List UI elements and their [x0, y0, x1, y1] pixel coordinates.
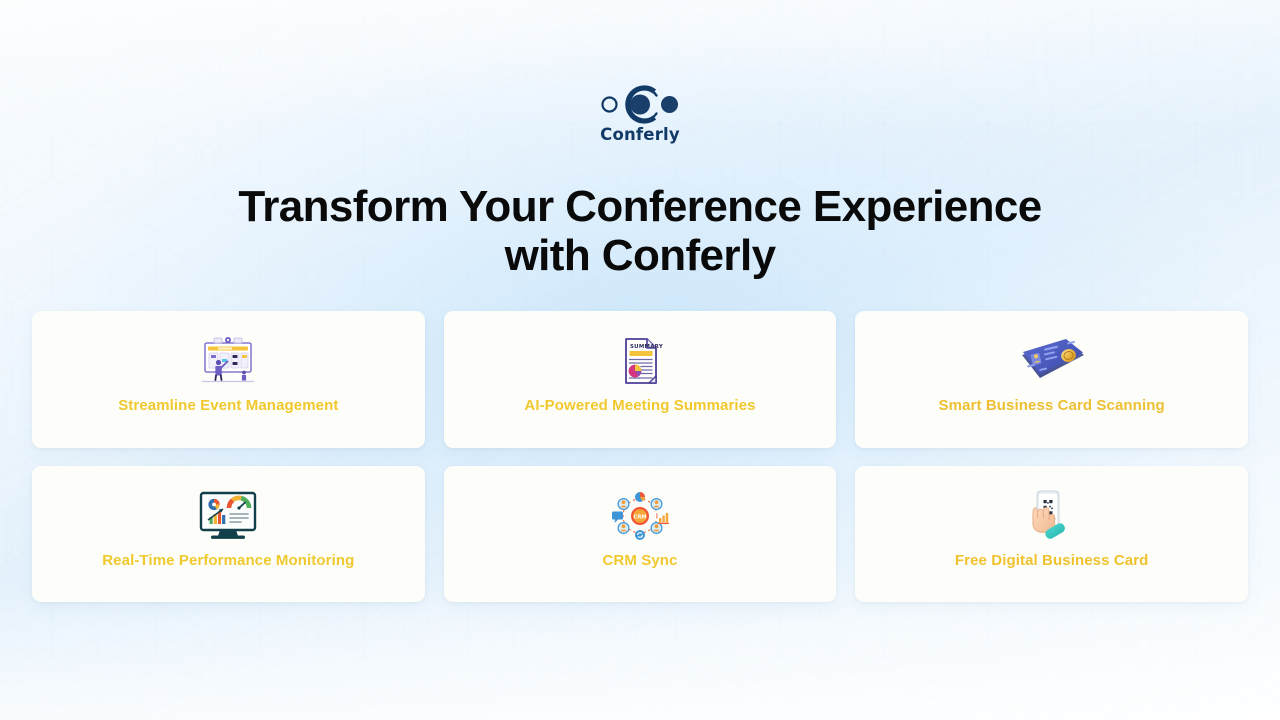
feature-card-title: CRM Sync	[593, 552, 688, 570]
landing-page: Conferly Transform Your Conference Exper…	[0, 0, 1280, 720]
svg-text:SUMMARY: SUMMARY	[630, 344, 663, 350]
feature-card-title: Free Digital Business Card	[945, 552, 1159, 570]
feature-card-title: Real-Time Performance Monitoring	[92, 552, 364, 570]
feature-card-crm-sync[interactable]: CRM	[444, 466, 837, 602]
business-card-chip-icon	[1014, 333, 1090, 389]
brand-name: Conferly	[600, 127, 680, 144]
feature-card-title: AI-Powered Meeting Summaries	[514, 397, 765, 415]
feature-card-real-time-performance-monitoring[interactable]: Real-Time Performance Monitoring	[32, 466, 425, 602]
phone-qr-hand-icon	[1023, 488, 1081, 544]
feature-card-title: Smart Business Card Scanning	[929, 397, 1175, 415]
feature-card-grid: Streamline Event Management SUMMARY	[32, 311, 1248, 602]
brand-logo[interactable]: Conferly	[0, 82, 1280, 144]
feature-card-free-digital-business-card[interactable]: Free Digital Business Card	[855, 466, 1248, 602]
conferly-orbit-logo-icon	[599, 82, 681, 126]
crm-network-icon: CRM	[608, 488, 672, 544]
feature-card-ai-powered-meeting-summaries[interactable]: SUMMARY	[444, 311, 837, 448]
page-title: Transform Your Conference Experience wit…	[90, 182, 1190, 280]
summary-document-icon: SUMMARY	[615, 333, 665, 389]
headline-line-2: with Conferly	[505, 231, 776, 280]
feature-card-smart-business-card-scanning[interactable]: Smart Business Card Scanning	[855, 311, 1248, 448]
svg-text:CRM: CRM	[634, 514, 647, 520]
feature-card-title: Streamline Event Management	[108, 397, 348, 415]
dashboard-monitor-icon	[193, 488, 263, 544]
feature-card-streamline-event-management[interactable]: Streamline Event Management	[32, 311, 425, 448]
event-board-presentation-icon	[196, 333, 260, 389]
headline-line-1: Transform Your Conference Experience	[238, 182, 1041, 231]
